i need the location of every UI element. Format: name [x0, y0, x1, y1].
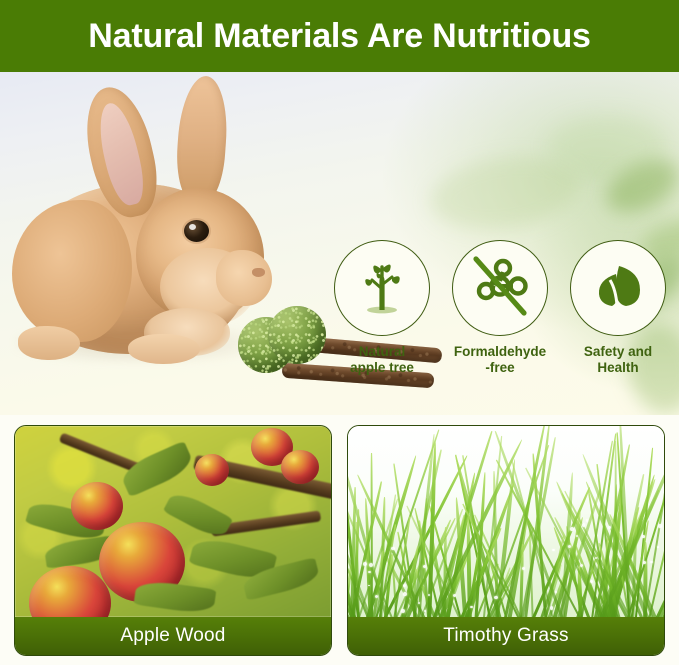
dew-drop	[424, 610, 426, 612]
dew-drop	[658, 524, 662, 528]
apple-orchard-photo	[15, 426, 331, 617]
dew-drop	[555, 591, 557, 593]
timothy-grass-photo	[348, 426, 664, 617]
apple-fruit	[195, 454, 229, 486]
dew-drop	[403, 584, 406, 587]
feature-badge-group: Natural apple tree	[330, 240, 670, 380]
dew-drop	[453, 594, 456, 597]
dew-drop	[586, 519, 588, 521]
background-foliage-blur	[426, 148, 584, 238]
dew-drop	[375, 595, 378, 598]
dew-drop	[423, 565, 426, 568]
dew-drop	[642, 535, 645, 538]
rabbit-nose	[252, 268, 265, 277]
apple-fruit	[71, 482, 123, 530]
rabbit-paw	[18, 326, 80, 360]
badge-circle	[452, 240, 548, 336]
rabbit-ear-front	[174, 74, 231, 205]
timothy-grass-ball	[268, 306, 326, 364]
page-title: Natural Materials Are Nutritious	[88, 17, 590, 56]
rabbit-muzzle	[216, 250, 272, 306]
material-panel-apple-wood: Apple Wood	[14, 425, 332, 656]
dew-drop	[550, 606, 553, 609]
badge-label: Formaldehyde -free	[454, 344, 546, 377]
header-banner: Natural Materials Are Nutritious	[0, 0, 679, 72]
panel-caption-apple-wood: Apple Wood	[15, 617, 331, 655]
background-foliage-blur	[548, 116, 668, 176]
rabbit-eye-glint	[189, 224, 196, 230]
badge-circle	[570, 240, 666, 336]
material-panel-timothy-grass: Timothy Grass	[347, 425, 665, 656]
dew-drop	[368, 571, 370, 573]
dew-drop	[590, 580, 594, 584]
dew-drop	[657, 546, 659, 548]
apple-fruit	[281, 450, 319, 484]
dew-drop	[568, 545, 571, 548]
dew-drop	[470, 606, 472, 608]
feature-badge-natural-apple-tree: Natural apple tree	[330, 240, 434, 380]
badge-circle	[334, 240, 430, 336]
panel-caption-timothy-grass: Timothy Grass	[348, 617, 664, 655]
dew-drop	[522, 567, 525, 570]
badge-label: Natural apple tree	[350, 344, 414, 377]
badge-label: Safety and Health	[584, 344, 652, 377]
feature-badge-safety-and-health: Safety and Health	[566, 240, 670, 380]
dew-drop	[494, 596, 497, 599]
rabbit-paw	[128, 334, 200, 364]
product-infographic: Natural Materials Are Nutritious	[0, 0, 679, 665]
sapling-tree-icon	[351, 255, 413, 322]
dew-drop	[552, 549, 554, 551]
dew-drop	[363, 562, 367, 566]
rabbit-rump	[12, 200, 132, 342]
dew-drop	[570, 527, 574, 531]
dew-drop	[391, 547, 394, 550]
dew-drop	[428, 594, 430, 596]
no-formaldehyde-molecule-icon	[467, 253, 533, 324]
rabbit-eye	[184, 220, 209, 242]
feature-badge-formaldehyde-free: Formaldehyde -free	[448, 240, 552, 380]
grass-field	[348, 426, 664, 617]
background-foliage-blur	[598, 149, 679, 223]
hero-photo: Natural apple tree	[0, 72, 679, 415]
dew-drop	[582, 523, 586, 527]
two-leaves-icon	[586, 254, 650, 323]
dew-drop	[401, 609, 405, 613]
dew-drop	[369, 563, 373, 567]
